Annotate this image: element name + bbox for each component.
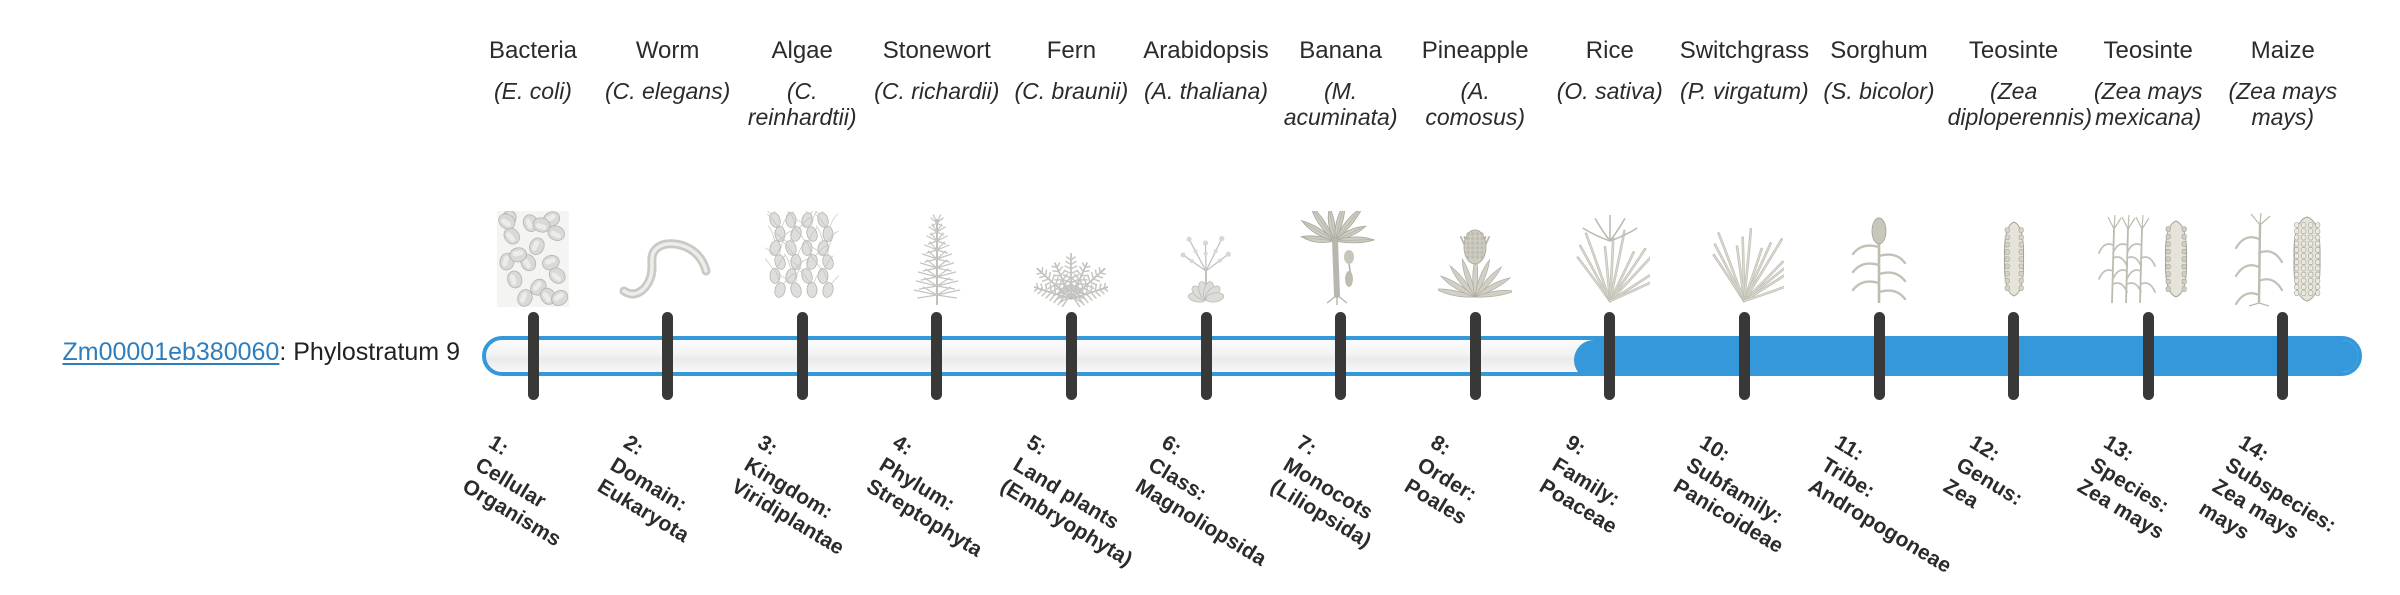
- algae-illustration: [742, 211, 862, 307]
- timeline-tick[interactable]: [931, 312, 942, 400]
- banana-illustration: [1281, 211, 1401, 307]
- species-column: Arabidopsis(A. thaliana): [1139, 0, 1273, 315]
- rank-label: 10: Subfamily: Panicoideae: [1669, 430, 1837, 573]
- species-common-name: Maize: [2251, 38, 2315, 65]
- rank-label: 14: Subspecies: Zea mays mays: [2194, 430, 2375, 595]
- bacteria-illustration: [473, 211, 593, 307]
- stonewort-illustration: [877, 211, 997, 307]
- species-scientific-name: (Zea mays mays): [2217, 79, 2349, 131]
- species-column: Stonewort(C. richardii): [870, 0, 1004, 315]
- arabidopsis-illustration: [1146, 211, 1266, 307]
- species-column: Rice(O. sativa): [1543, 0, 1677, 315]
- timeline-tick[interactable]: [2277, 312, 2288, 400]
- switchgrass-illustration: [1684, 211, 1804, 307]
- timeline-tick[interactable]: [1874, 312, 1885, 400]
- rank-label: 1: Cellular Organisms: [457, 430, 625, 573]
- teosinte-mexicana-illustration: [2088, 211, 2208, 307]
- species-common-name: Algae: [771, 38, 832, 65]
- teosinte-diploperennis-illustration: [1954, 211, 2074, 307]
- gene-label-separator: :: [279, 338, 293, 366]
- timeline-fill: [1574, 340, 2362, 376]
- species-column: Fern(C. braunii): [1004, 0, 1138, 315]
- species-column: Algae(C. reinhardtii): [735, 0, 869, 315]
- timeline-tick[interactable]: [2143, 312, 2154, 400]
- species-scientific-name: (M. acuminata): [1275, 79, 1407, 131]
- species-scientific-name: (S. bicolor): [1823, 79, 1934, 105]
- species-column: Switchgrass(P. virgatum): [1677, 0, 1811, 315]
- species-column: Teosinte(Zea diploperennis): [1947, 0, 2081, 315]
- species-columns: Bacteria(E. coli): [482, 0, 2362, 315]
- species-common-name: Fern: [1047, 38, 1096, 65]
- timeline-tick[interactable]: [797, 312, 808, 400]
- rank-labels: 1: Cellular Organisms2: Domain: Eukaryot…: [482, 430, 2362, 580]
- species-scientific-name: (A. thaliana): [1144, 79, 1268, 105]
- rank-label: 5: Land plants (Embryophyta): [996, 430, 1164, 573]
- fern-illustration: [1011, 211, 1131, 307]
- species-column: Maize(Zea mays mays): [2216, 0, 2350, 315]
- species-column: Bacteria(E. coli): [466, 0, 600, 315]
- gene-id-link[interactable]: Zm00001eb380060: [62, 338, 279, 366]
- timeline-tick[interactable]: [2008, 312, 2019, 400]
- sorghum-illustration: [1819, 211, 1939, 307]
- timeline-tick[interactable]: [1604, 312, 1615, 400]
- species-common-name: Rice: [1586, 38, 1634, 65]
- species-scientific-name: (C. richardii): [874, 79, 999, 105]
- species-scientific-name: (E. coli): [494, 79, 572, 105]
- timeline-tick[interactable]: [1201, 312, 1212, 400]
- species-common-name: Pineapple: [1422, 38, 1529, 65]
- species-scientific-name: (O. sativa): [1557, 79, 1663, 105]
- timeline-tick[interactable]: [1739, 312, 1750, 400]
- timeline-tick[interactable]: [1066, 312, 1077, 400]
- timeline-tick[interactable]: [1335, 312, 1346, 400]
- species-scientific-name: (C. reinhardtii): [736, 79, 868, 131]
- species-common-name: Arabidopsis: [1143, 38, 1268, 65]
- rank-label: 11: Tribe: Andropogoneae: [1803, 430, 1971, 573]
- rank-label: 8: Order: Poales: [1400, 430, 1568, 573]
- species-common-name: Banana: [1299, 38, 1382, 65]
- species-column: Banana(M. acuminata): [1274, 0, 1408, 315]
- species-common-name: Worm: [636, 38, 700, 65]
- species-scientific-name: (P. virgatum): [1678, 79, 1810, 105]
- rank-label: 6: Class: Magnoliopsida: [1130, 430, 1298, 573]
- species-scientific-name: (A. comosus): [1409, 79, 1541, 131]
- rice-illustration: [1550, 211, 1670, 307]
- species-column: Teosinte(Zea mays mexicana): [2081, 0, 2215, 315]
- pineapple-illustration: [1415, 211, 1535, 307]
- species-common-name: Switchgrass: [1680, 38, 1809, 65]
- species-column: Pineapple(A. comosus): [1408, 0, 1542, 315]
- gene-phylostratum-label: Zm00001eb380060: Phylostratum 9: [30, 337, 460, 368]
- species-scientific-name: (Zea diploperennis): [1948, 79, 2080, 131]
- timeline-tick[interactable]: [528, 312, 539, 400]
- species-scientific-name: (C. braunii): [1015, 79, 1129, 105]
- species-column: Sorghum(S. bicolor): [1812, 0, 1946, 315]
- species-common-name: Teosinte: [1969, 38, 2058, 65]
- species-common-name: Sorghum: [1830, 38, 1927, 65]
- species-common-name: Bacteria: [489, 38, 577, 65]
- phylostratum-figure: Zm00001eb380060: Phylostratum 9 Bacteria…: [0, 0, 2400, 580]
- timeline-tick[interactable]: [662, 312, 673, 400]
- timeline-tick[interactable]: [1470, 312, 1481, 400]
- worm-illustration: [608, 211, 728, 307]
- species-column: Worm(C. elegans): [601, 0, 735, 315]
- species-scientific-name: (C. elegans): [605, 79, 730, 105]
- phylostratum-timeline[interactable]: [482, 336, 2362, 376]
- phylostratum-value: Phylostratum 9: [293, 338, 460, 366]
- maize-illustration: [2223, 211, 2343, 307]
- species-common-name: Teosinte: [2103, 38, 2192, 65]
- timeline-track[interactable]: [482, 336, 2362, 376]
- rank-label: 3: Kingdom: Viridiplantae: [727, 430, 895, 573]
- species-scientific-name: (Zea mays mexicana): [2082, 79, 2214, 131]
- species-common-name: Stonewort: [883, 38, 991, 65]
